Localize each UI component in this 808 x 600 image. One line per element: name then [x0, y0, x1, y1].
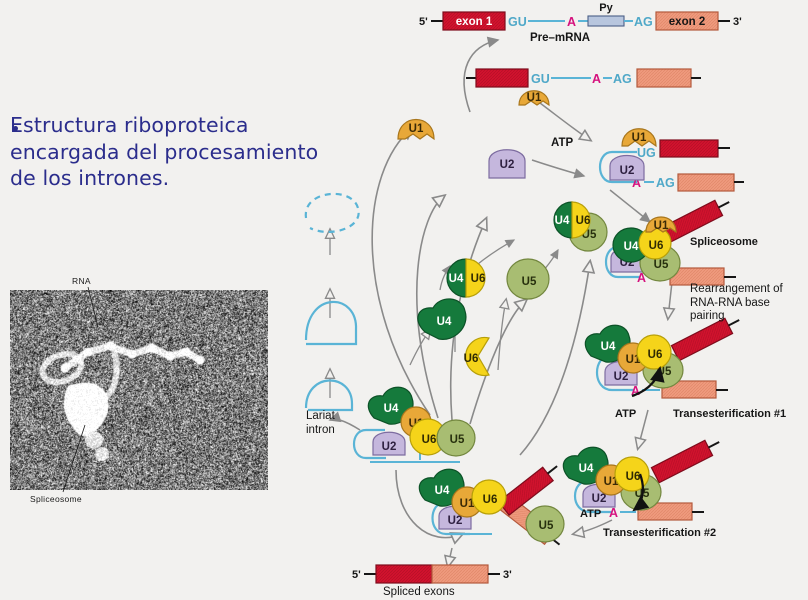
micrograph-leader-lines: [0, 0, 808, 599]
slide-canvas: Estructura riboproteica encargada del pr…: [0, 0, 808, 599]
